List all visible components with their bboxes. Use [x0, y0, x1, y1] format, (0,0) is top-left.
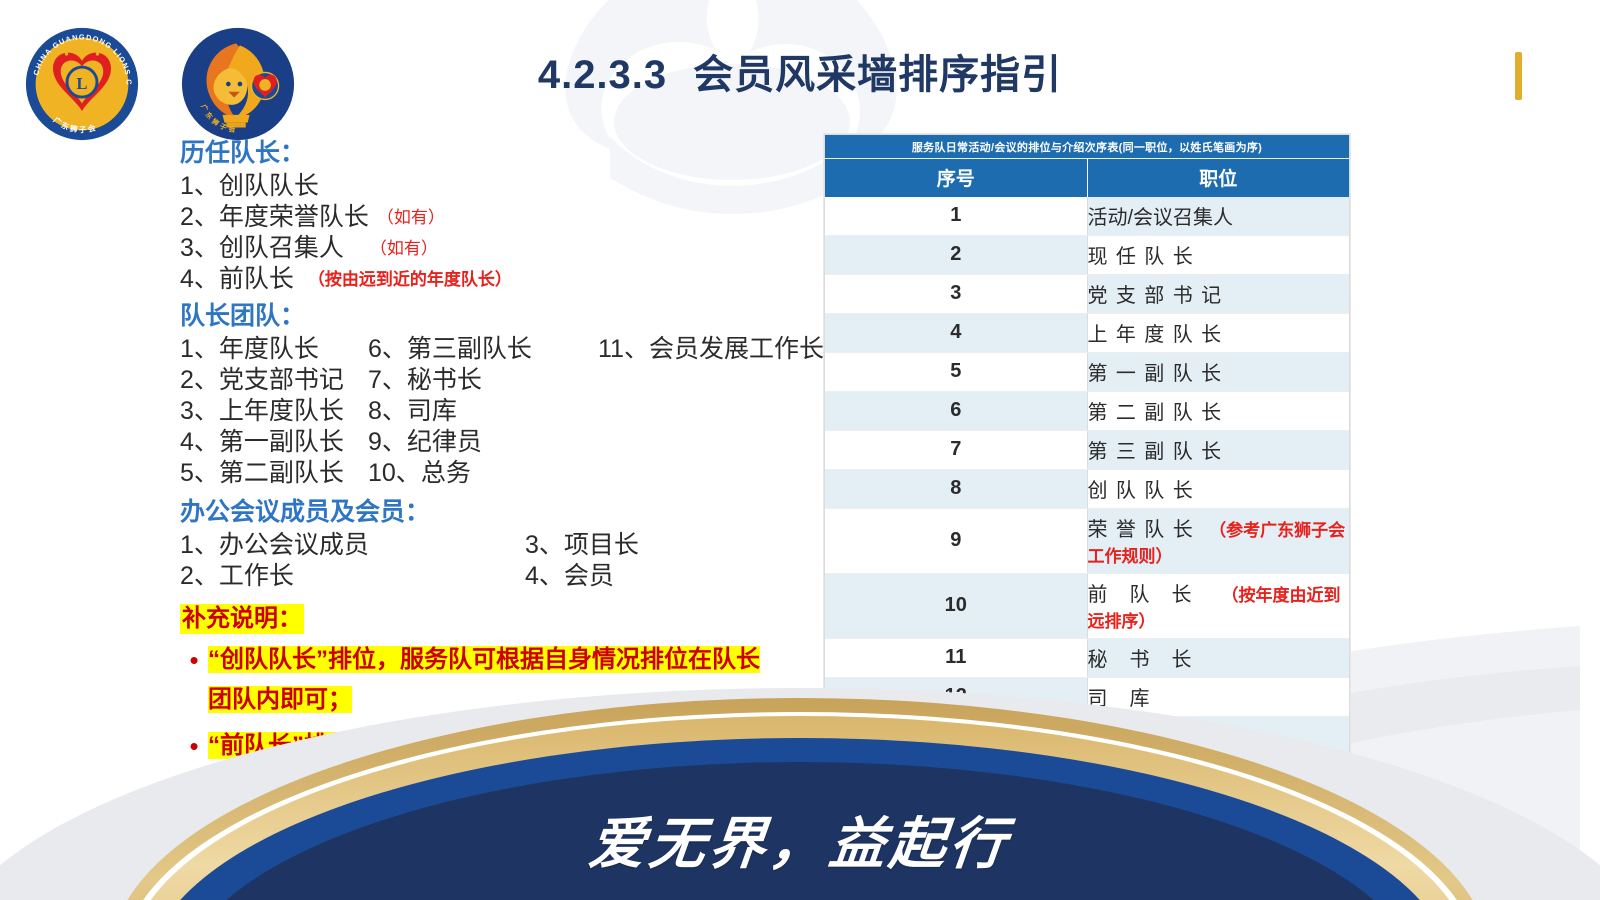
table-body: 1活动/会议召集人2现任队长3党支部书记4上年度队长5第一副队长6第二副队长7第…	[825, 197, 1349, 900]
list-item: 5、第二副队长 10、总务	[180, 458, 830, 489]
item-note: （如有）	[370, 233, 438, 264]
item-label: 秘书长	[407, 366, 482, 394]
table-row: 8创队队长	[825, 470, 1349, 509]
item-number: 4、	[525, 562, 564, 590]
row-position-label: 第三副队长	[1088, 441, 1230, 463]
row-position-label: 活动/会议召集人	[1088, 207, 1234, 229]
bullet-dot-icon: •	[180, 640, 208, 680]
ranking-table: 服务队日常活动/会议的排位与介绍次序表(同一职位，以姓氏笔画为序) 序号 职位 …	[825, 135, 1349, 900]
supplement-bullet: • “前队长”排位顺序，服务队可根据自身情况按时间顺序排位即可。	[180, 726, 830, 806]
row-index: 13	[825, 717, 1087, 756]
row-position: 办公会议成员	[1087, 834, 1349, 873]
row-position: 会员发展工作长	[1087, 795, 1349, 834]
row-position: 活动/会议召集人	[1087, 197, 1349, 236]
item-number: 3、	[525, 531, 564, 559]
row-index: 9	[825, 509, 1087, 574]
item-number: 1、	[180, 335, 219, 363]
row-position: 创队队长	[1087, 470, 1349, 509]
list-item: 1、办公会议成员 3、项目长	[180, 530, 830, 561]
slide-canvas: L CHINA GUANGDONG LIONS CLUBS 广东狮子会	[0, 0, 1600, 900]
item-number: 3、	[180, 397, 219, 425]
section-heading-captain-team: 队长团队：	[180, 301, 830, 332]
item-label: 前队长	[219, 264, 294, 295]
item-number: 1、	[180, 171, 219, 202]
row-position: 司库	[1087, 678, 1349, 717]
row-index: 1	[825, 197, 1087, 236]
row-position: 第一副队长	[1087, 353, 1349, 392]
table-row: 13纪律员	[825, 717, 1349, 756]
item-number: 11、	[598, 335, 649, 363]
item-label: 第二副队长	[219, 459, 344, 487]
row-position-label: 会员发展工作长	[1088, 805, 1228, 827]
row-index: 14	[825, 756, 1087, 795]
list-item: 4、第一副队长 9、纪律员	[180, 427, 830, 458]
table-row: 5第一副队长	[825, 353, 1349, 392]
section-heading-past-captains: 历任队长：	[180, 138, 830, 169]
row-index: 12	[825, 678, 1087, 717]
row-position: 非办公会议成员的项目长、工作长	[1087, 873, 1349, 900]
item-label: 项目长	[564, 531, 639, 559]
list-item: 2、工作长 4、会员	[180, 561, 830, 592]
row-position: 第三副队长	[1087, 431, 1349, 470]
table-row: 17非办公会议成员的项目长、工作长	[825, 873, 1349, 900]
item-number: 3、	[180, 233, 219, 264]
row-position-label: 纪律员	[1088, 727, 1214, 749]
row-position-label: 党支部书记	[1088, 285, 1230, 307]
item-label: 党支部书记	[219, 366, 344, 394]
row-index: 8	[825, 470, 1087, 509]
item-label: 创队召集人	[219, 233, 344, 264]
table-row: 12司库	[825, 678, 1349, 717]
row-position: 纪律员	[1087, 717, 1349, 756]
item-number: 7、	[368, 366, 407, 394]
row-position: 荣誉队长（参考广东狮子会工作规则）	[1087, 509, 1349, 574]
item-number: 2、	[180, 202, 219, 233]
table-row: 2现任队长	[825, 236, 1349, 275]
row-index: 3	[825, 275, 1087, 314]
row-position: 现任队长	[1087, 236, 1349, 275]
left-content-panel: 历任队长： 1、 创队队长 2、 年度荣誉队长 （如有） 3、 创队召集人 （如…	[180, 138, 830, 806]
table-row: 1活动/会议召集人	[825, 197, 1349, 236]
item-number: 2、	[180, 562, 219, 590]
item-label: 第一副队长	[219, 428, 344, 456]
row-position: 党支部书记	[1087, 275, 1349, 314]
item-number: 1、	[180, 531, 219, 559]
row-position: 第二副队长	[1087, 392, 1349, 431]
supplement-bullet-text: “前队长”排位顺序，服务队可根据自身情况按时间顺序排位即可。	[208, 732, 760, 799]
row-position-label: 荣誉队长	[1088, 519, 1202, 541]
list-office-members: 1、办公会议成员 3、项目长 2、工作长 4、会员	[180, 530, 830, 592]
row-index: 15	[825, 795, 1087, 834]
row-position-label: 办公会议成员的项目长、工作长	[1088, 883, 1348, 900]
table-header-row: 序号 职位	[825, 159, 1349, 198]
table-row: 10前队长（按年度由近到远排序）	[825, 574, 1349, 639]
row-position: 前队长（按年度由近到远排序）	[1087, 574, 1349, 639]
row-index: 10	[825, 574, 1087, 639]
table-row: 7第三副队长	[825, 431, 1349, 470]
title-number: 4.2.3.3	[538, 53, 667, 97]
row-position-label: 第二副队长	[1088, 402, 1230, 424]
item-number: 4、	[180, 428, 219, 456]
item-label: 第三副队长	[407, 335, 532, 363]
list-item: 2、 年度荣誉队长 （如有）	[180, 202, 830, 233]
item-label: 会员	[564, 562, 614, 590]
row-index: 4	[825, 314, 1087, 353]
item-note: （按由远到近的年度队长）	[308, 264, 512, 295]
item-number: 9、	[368, 428, 407, 456]
list-captain-team: 1、年度队长 6、第三副队长 11、会员发展工作长 2、党支部书记 7、秘书长 …	[180, 334, 830, 489]
row-index: 5	[825, 353, 1087, 392]
item-label: 司库	[407, 397, 457, 425]
supplement-bullet: • “创队队长”排位，服务队可根据自身情况排位在队长团队内即可；	[180, 640, 830, 720]
row-position-label: 司库	[1088, 688, 1172, 710]
list-past-captains: 1、 创队队长 2、 年度荣誉队长 （如有） 3、 创队召集人 （如有） 4、 …	[180, 171, 830, 295]
item-number: 8、	[368, 397, 407, 425]
item-number: 2、	[180, 366, 219, 394]
item-note: （如有）	[377, 202, 445, 233]
table-caption-row: 服务队日常活动/会议的排位与介绍次序表(同一职位，以姓氏笔画为序)	[825, 135, 1349, 159]
section-heading-office-members: 办公会议成员及会员：	[180, 497, 830, 528]
table-row: 6第二副队长	[825, 392, 1349, 431]
item-label: 总务	[421, 459, 471, 487]
item-label: 年度荣誉队长	[219, 202, 369, 233]
item-number: 5、	[180, 459, 219, 487]
item-number: 10、	[368, 459, 421, 487]
item-number: 6、	[368, 335, 407, 363]
item-label: 工作长	[219, 562, 294, 590]
table-row: 3党支部书记	[825, 275, 1349, 314]
table-row: 16办公会议成员	[825, 834, 1349, 873]
bullet-dot-icon: •	[180, 726, 208, 766]
row-index: 11	[825, 639, 1087, 678]
ranking-table-container: 服务队日常活动/会议的排位与介绍次序表(同一职位，以姓氏笔画为序) 序号 职位 …	[824, 134, 1350, 900]
item-label: 上年度队长	[219, 397, 344, 425]
row-position: 总务	[1087, 756, 1349, 795]
row-position-label: 现任队长	[1088, 246, 1202, 268]
list-item: 1、年度队长 6、第三副队长 11、会员发展工作长	[180, 334, 830, 365]
supplement-bullet-text: “创队队长”排位，服务队可根据自身情况排位在队长团队内即可；	[208, 646, 760, 713]
row-position-label: 创队队长	[1088, 480, 1202, 502]
list-item: 2、党支部书记 7、秘书长	[180, 365, 830, 396]
list-item: 3、 创队召集人 （如有）	[180, 233, 830, 264]
item-number: 4、	[180, 264, 219, 295]
table-row: 15会员发展工作长	[825, 795, 1349, 834]
supplement-title: 补充说明：	[180, 604, 304, 634]
row-position: 上年度队长	[1087, 314, 1349, 353]
row-position-red-prefix: 非	[1088, 883, 1108, 900]
table-row: 14总务	[825, 756, 1349, 795]
item-label: 办公会议成员	[219, 531, 369, 559]
row-position-label: 第一副队长	[1088, 363, 1230, 385]
row-position-label: 办公会议成员	[1088, 844, 1208, 866]
row-position: 秘书长	[1087, 639, 1349, 678]
row-index: 16	[825, 834, 1087, 873]
item-label: 年度队长	[219, 335, 319, 363]
row-position-label: 秘书长	[1088, 649, 1214, 671]
banner-slogan: 爱无界，益起行	[0, 799, 1600, 880]
row-index: 6	[825, 392, 1087, 431]
row-position-label: 前队长	[1088, 584, 1214, 606]
item-label: 会员发展工作长	[649, 335, 824, 363]
row-index: 17	[825, 873, 1087, 900]
item-label: 创队队长	[219, 171, 319, 202]
item-label: 纪律员	[407, 428, 482, 456]
page-title: 4.2.3.3会员风采墙排序指引	[0, 42, 1600, 100]
row-index: 7	[825, 431, 1087, 470]
table-row: 9荣誉队长（参考广东狮子会工作规则）	[825, 509, 1349, 574]
column-header-index: 序号	[825, 159, 1087, 198]
column-header-position: 职位	[1087, 159, 1349, 198]
title-text: 会员风采墙排序指引	[693, 53, 1062, 97]
table-row: 4上年度队长	[825, 314, 1349, 353]
list-item: 3、上年度队长 8、司库	[180, 396, 830, 427]
list-item: 1、 创队队长	[180, 171, 830, 202]
supplement-block: 补充说明： • “创队队长”排位，服务队可根据自身情况排位在队长团队内即可； •…	[180, 592, 830, 806]
row-position-label: 总务	[1088, 766, 1172, 788]
row-index: 2	[825, 236, 1087, 275]
table-row: 11秘书长	[825, 639, 1349, 678]
row-position-label: 上年度队长	[1088, 324, 1230, 346]
list-item: 4、 前队长 （按由远到近的年度队长）	[180, 264, 830, 295]
table-caption: 服务队日常活动/会议的排位与介绍次序表(同一职位，以姓氏笔画为序)	[825, 135, 1349, 159]
